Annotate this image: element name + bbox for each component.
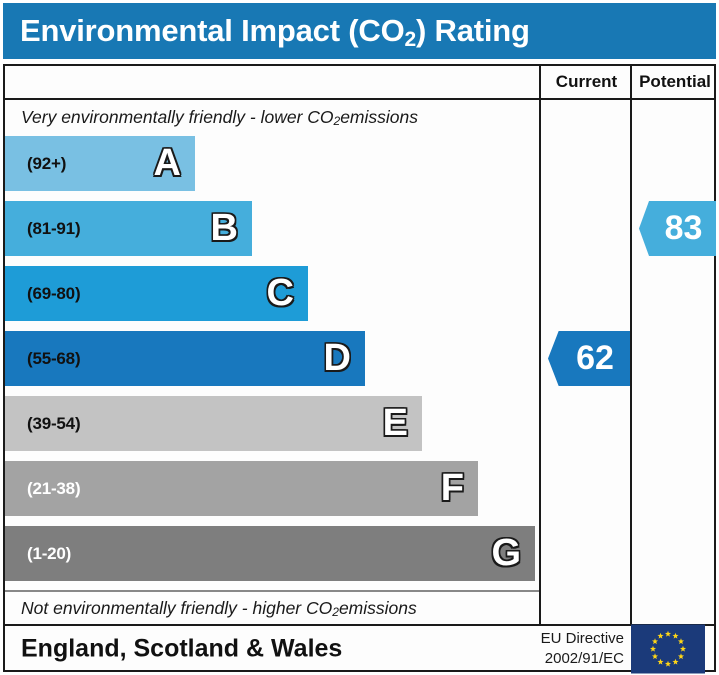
caption-bottom-subscript: 2	[332, 605, 339, 619]
footer-directive: EU Directive 2002/91/EC	[541, 629, 624, 669]
column-divider-current	[539, 100, 541, 624]
caption-top-subscript: 2	[334, 114, 341, 128]
band-range-label: (39-54)	[5, 414, 80, 434]
band-range-label: (92+)	[5, 154, 66, 174]
page-title: Environmental Impact (CO2) Rating	[3, 13, 530, 49]
footer-region-label: England, Scotland & Wales	[21, 635, 342, 664]
band-letter-b: B	[211, 209, 238, 247]
chart-footer: England, Scotland & Wales EU Directive 2…	[5, 624, 714, 672]
column-divider-potential	[630, 100, 632, 624]
band-letter-g: G	[491, 534, 521, 572]
footer-directive-line2: 2002/91/EC	[541, 649, 624, 669]
page-title-post: ) Rating	[416, 13, 530, 48]
page-title-subscript: 2	[405, 28, 416, 51]
caption-top-pre: Very environmentally friendly - lower CO	[21, 107, 334, 128]
band-range-label: (55-68)	[5, 349, 80, 369]
rating-band-g: (1-20)G	[5, 526, 535, 581]
caption-bottom-post: emissions	[339, 598, 417, 619]
rating-band-b: (81-91)B	[5, 201, 252, 256]
caption-bottom-pre: Not environmentally friendly - higher CO	[21, 598, 332, 619]
band-range-label: (81-91)	[5, 219, 80, 239]
rating-marker-potential: 83	[639, 201, 716, 256]
column-header-potential: Potential	[630, 66, 718, 98]
band-letter-d: D	[324, 339, 351, 377]
band-letter-e: E	[383, 404, 408, 442]
band-range-label: (21-38)	[5, 479, 80, 499]
band-letter-a: A	[154, 144, 181, 182]
chart-title-banner: Environmental Impact (CO2) Rating	[3, 3, 716, 59]
caption-bottom: Not environmentally friendly - higher CO…	[5, 590, 539, 624]
band-letter-f: F	[441, 469, 464, 507]
rating-band-e: (39-54)E	[5, 396, 422, 451]
band-range-label: (1-20)	[5, 544, 71, 564]
rating-marker-current: 62	[548, 331, 630, 386]
epc-environmental-impact-chart: Environmental Impact (CO2) Rating Curren…	[0, 0, 719, 675]
footer-directive-line1: EU Directive	[541, 629, 624, 649]
rating-bands: (92+)A(81-91)B(69-80)C(55-68)D(39-54)E(2…	[5, 136, 539, 590]
column-header-row: Current Potential	[5, 66, 714, 100]
rating-band-f: (21-38)F	[5, 461, 478, 516]
caption-top: Very environmentally friendly - lower CO…	[5, 100, 539, 134]
band-range-label: (69-80)	[5, 284, 80, 304]
band-letter-c: C	[267, 274, 294, 312]
page-title-pre: Environmental Impact (CO	[20, 13, 405, 48]
rating-band-d: (55-68)D	[5, 331, 365, 386]
rating-band-c: (69-80)C	[5, 266, 308, 321]
rating-band-a: (92+)A	[5, 136, 195, 191]
caption-top-post: emissions	[340, 107, 418, 128]
eu-flag-icon	[631, 625, 705, 674]
chart-frame: Current Potential Very environmentally f…	[3, 64, 716, 672]
column-header-current: Current	[539, 66, 632, 98]
